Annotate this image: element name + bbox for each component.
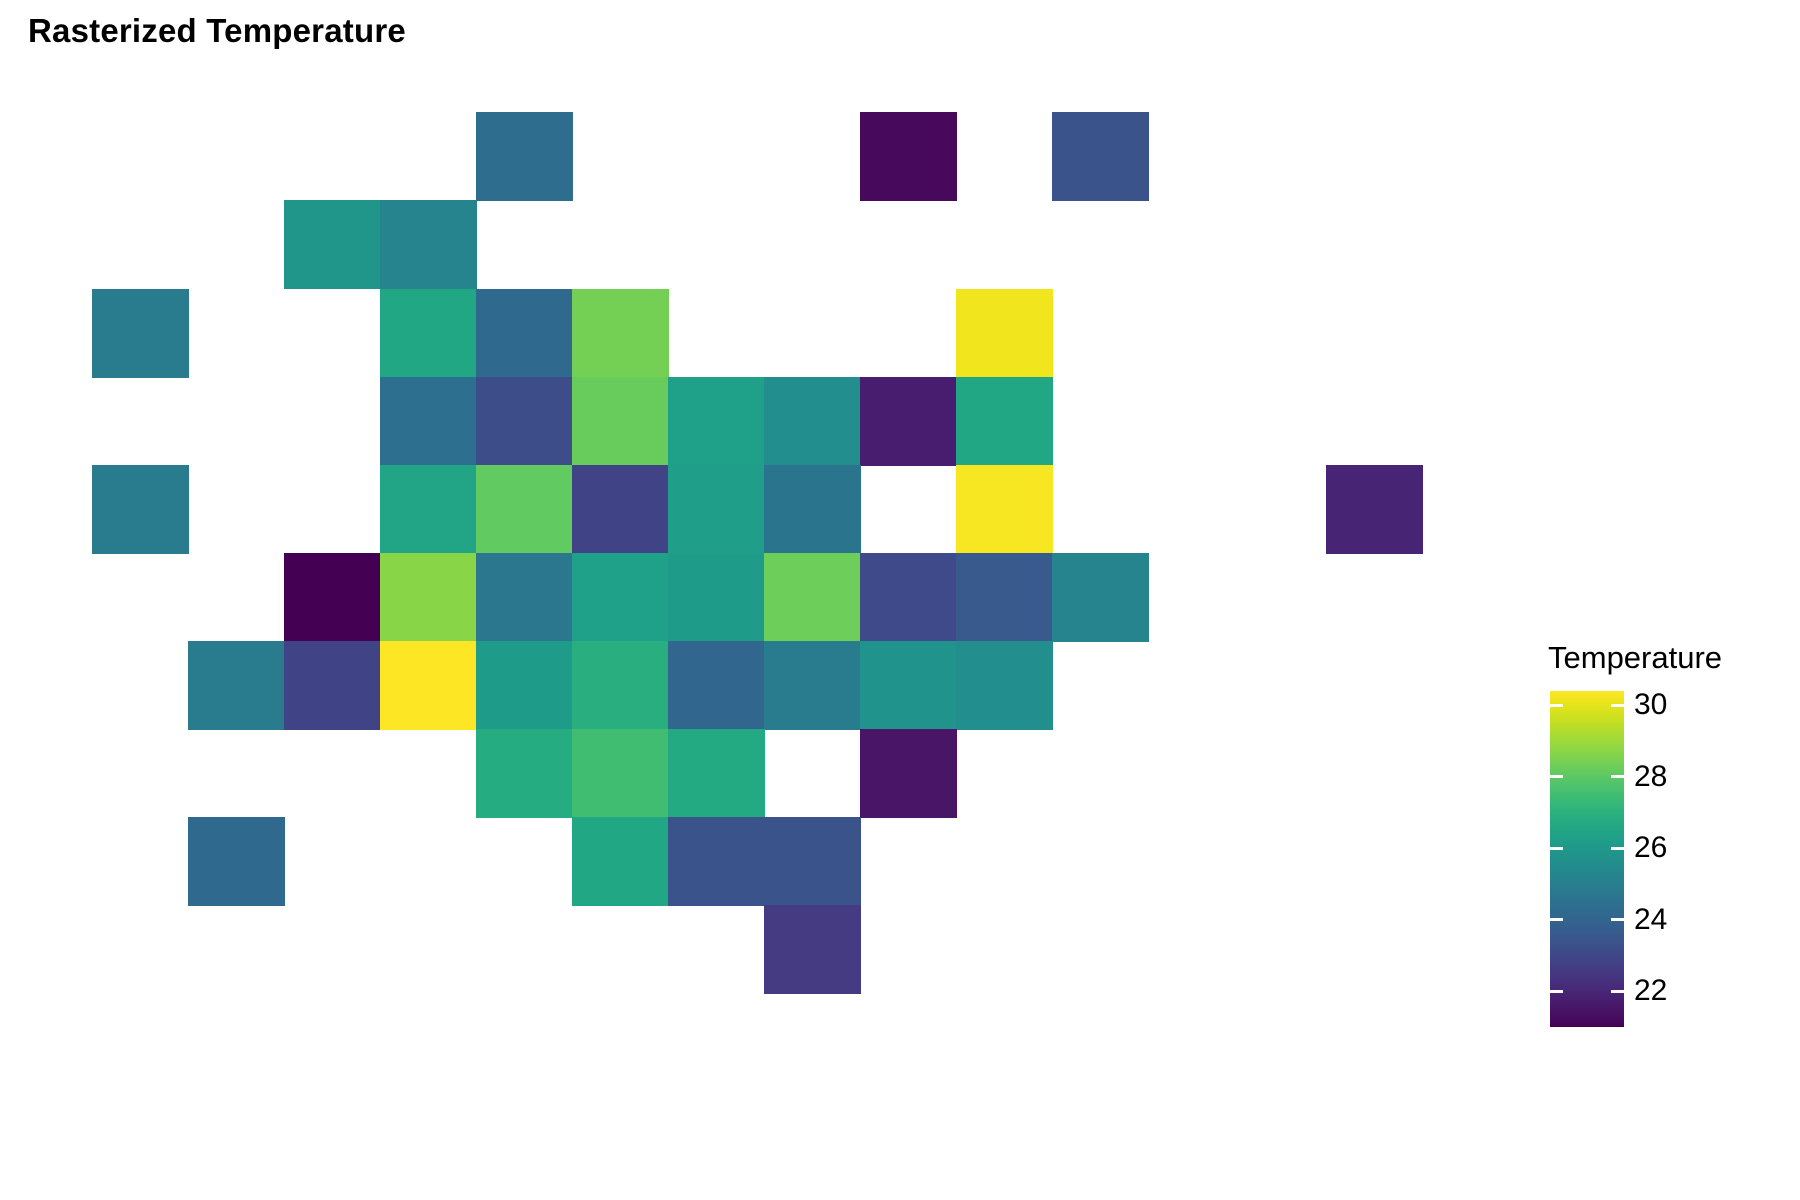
heatmap-cell <box>572 465 669 554</box>
legend-tick-mark <box>1611 704 1624 707</box>
heatmap-cell <box>380 553 477 642</box>
heatmap-cell <box>668 729 765 818</box>
heatmap-panel <box>0 0 1500 1200</box>
legend-tick-label: 30 <box>1634 688 1667 722</box>
heatmap-cell <box>476 112 573 201</box>
heatmap-cell <box>764 553 861 642</box>
heatmap-cell <box>380 465 477 554</box>
heatmap-cell <box>572 377 669 466</box>
heatmap-cell <box>476 465 573 554</box>
heatmap-cell <box>860 641 957 730</box>
heatmap-cell <box>284 641 381 730</box>
legend-tick-mark <box>1550 918 1563 921</box>
heatmap-cell <box>764 641 861 730</box>
heatmap-cell <box>284 553 381 642</box>
legend-tick-label: 24 <box>1634 903 1667 937</box>
legend-tick-mark <box>1550 990 1563 993</box>
heatmap-cell <box>668 465 765 554</box>
legend-tick-mark <box>1550 847 1563 850</box>
legend: Temperature 3028262422 <box>1548 640 1798 1040</box>
legend-colorbar <box>1550 691 1624 1027</box>
heatmap-cell <box>956 465 1053 554</box>
legend-tick-label: 22 <box>1634 974 1667 1008</box>
heatmap-cell <box>476 641 573 730</box>
heatmap-cell <box>1052 112 1149 201</box>
heatmap-cell <box>860 553 957 642</box>
heatmap-cell <box>956 289 1053 378</box>
heatmap-cell <box>572 289 669 378</box>
heatmap-cell <box>284 200 381 289</box>
heatmap-cell <box>380 377 477 466</box>
heatmap-cell <box>860 112 957 201</box>
heatmap-cell <box>668 553 765 642</box>
legend-tick-mark <box>1550 775 1563 778</box>
heatmap-cell <box>572 641 669 730</box>
heatmap-cell <box>860 729 957 818</box>
heatmap-cell <box>668 377 765 466</box>
chart-root: Rasterized Temperature Temperature 30282… <box>0 0 1800 1200</box>
legend-tick-mark <box>1611 990 1624 993</box>
heatmap-cell <box>1052 553 1149 642</box>
heatmap-cell <box>668 641 765 730</box>
legend-tick-label: 28 <box>1634 760 1667 794</box>
heatmap-cell <box>476 377 573 466</box>
heatmap-cell <box>764 817 861 906</box>
heatmap-cell <box>572 817 669 906</box>
heatmap-cell <box>668 817 765 906</box>
legend-tick-mark <box>1611 775 1624 778</box>
heatmap-cell <box>476 289 573 378</box>
heatmap-cell <box>956 641 1053 730</box>
heatmap-cell <box>380 289 477 378</box>
legend-tick-mark <box>1550 704 1563 707</box>
heatmap-cell <box>188 641 285 730</box>
heatmap-cell <box>956 553 1053 642</box>
legend-tick-mark <box>1611 918 1624 921</box>
legend-title: Temperature <box>1548 640 1722 676</box>
heatmap-cell <box>764 465 861 554</box>
heatmap-cell <box>572 553 669 642</box>
heatmap-cell <box>476 553 573 642</box>
legend-colorbar-wrapper <box>1550 691 1624 1027</box>
heatmap-cell <box>1326 465 1423 554</box>
heatmap-cell <box>572 729 669 818</box>
heatmap-cell <box>476 729 573 818</box>
heatmap-cell <box>92 289 189 378</box>
heatmap-cell <box>764 905 861 994</box>
heatmap-cell <box>380 200 477 289</box>
heatmap-cell <box>764 377 861 466</box>
legend-tick-label: 26 <box>1634 831 1667 865</box>
heatmap-cell <box>860 377 957 466</box>
heatmap-cell <box>956 377 1053 466</box>
heatmap-cell <box>92 465 189 554</box>
heatmap-cell <box>380 641 477 730</box>
heatmap-cell <box>188 817 285 906</box>
legend-tick-mark <box>1611 847 1624 850</box>
